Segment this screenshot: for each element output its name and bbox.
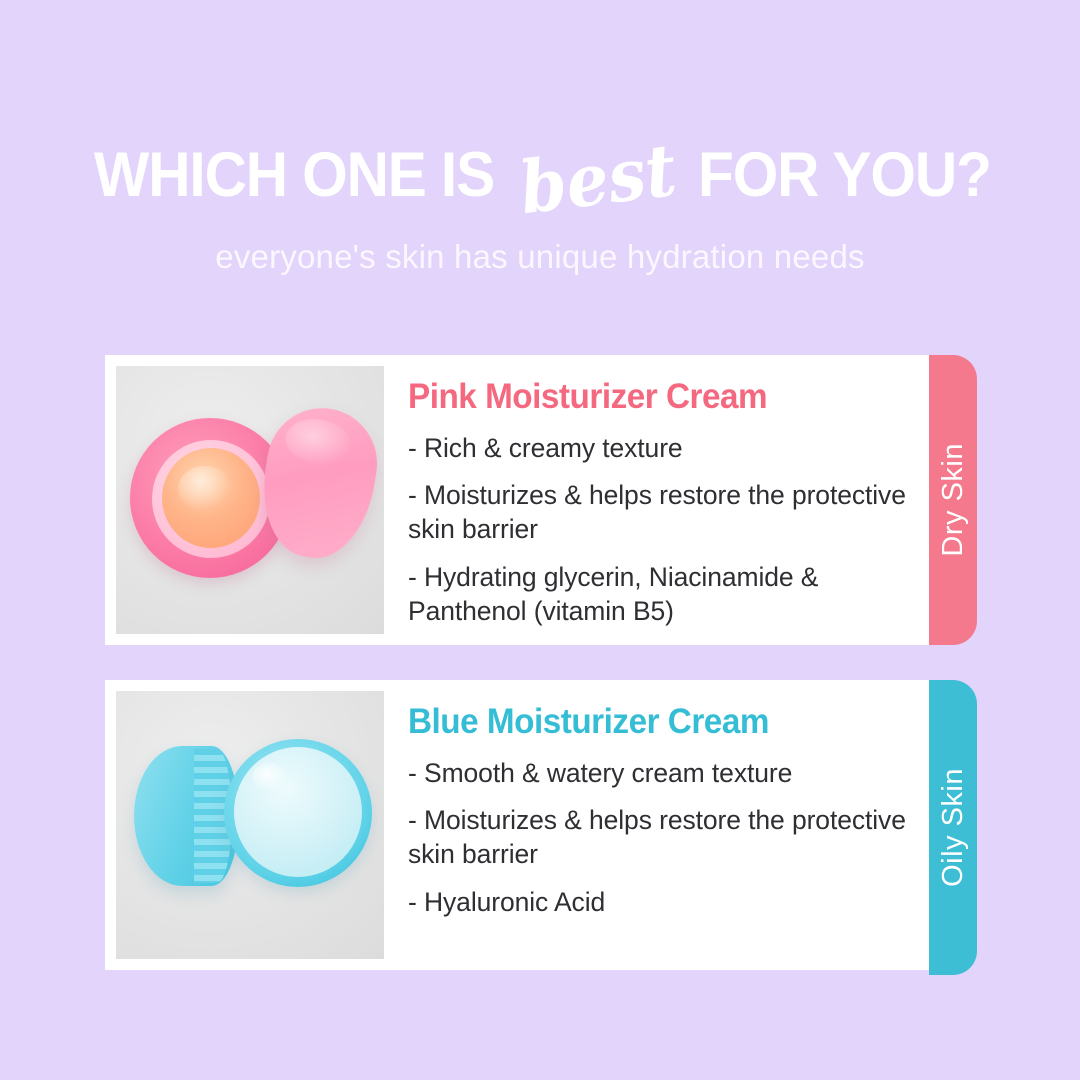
product-photo-blue	[116, 691, 384, 959]
skin-type-tab-label: Dry Skin	[937, 443, 970, 557]
header: WHICH ONE IS best FOR YOU? everyone's sk…	[0, 0, 1080, 276]
headline-script-word: best	[512, 133, 683, 224]
product-card-pink[interactable]: Pink Moisturizer Cream - Rich & creamy t…	[105, 355, 929, 645]
product-title-blue: Blue Moisturizer Cream	[408, 703, 885, 742]
pink-cream-surface	[162, 448, 260, 548]
feature-list-pink: - Rich & creamy texture - Moisturizes & …	[408, 432, 910, 630]
product-title-pink: Pink Moisturizer Cream	[408, 378, 885, 417]
list-item: - Rich & creamy texture	[408, 432, 910, 466]
list-item: - Moisturizes & helps restore the protec…	[408, 479, 910, 547]
page-title: WHICH ONE IS best FOR YOU?	[0, 132, 1080, 218]
skin-type-tab-oily[interactable]: Oily Skin	[929, 680, 977, 975]
product-text-blue: Blue Moisturizer Cream - Smooth & watery…	[384, 691, 918, 920]
list-item: - Hydrating glycerin, Niacinamide & Pant…	[408, 561, 910, 629]
skin-type-tab-dry[interactable]: Dry Skin	[929, 355, 977, 645]
product-card-blue[interactable]: Blue Moisturizer Cream - Smooth & watery…	[105, 680, 929, 970]
skin-type-tab-label: Oily Skin	[937, 768, 970, 887]
list-item: - Smooth & watery cream texture	[408, 757, 910, 791]
product-photo-pink	[116, 366, 384, 634]
feature-list-blue: - Smooth & watery cream texture - Moistu…	[408, 757, 910, 921]
page-subtitle: everyone's skin has unique hydration nee…	[0, 238, 1080, 276]
product-text-pink: Pink Moisturizer Cream - Rich & creamy t…	[384, 366, 918, 629]
list-item: - Hyaluronic Acid	[408, 886, 910, 920]
blue-gel-surface	[234, 747, 362, 877]
headline-prefix: WHICH ONE IS	[94, 144, 494, 207]
headline-suffix: FOR YOU?	[698, 144, 991, 207]
list-item: - Moisturizes & helps restore the protec…	[408, 804, 910, 872]
